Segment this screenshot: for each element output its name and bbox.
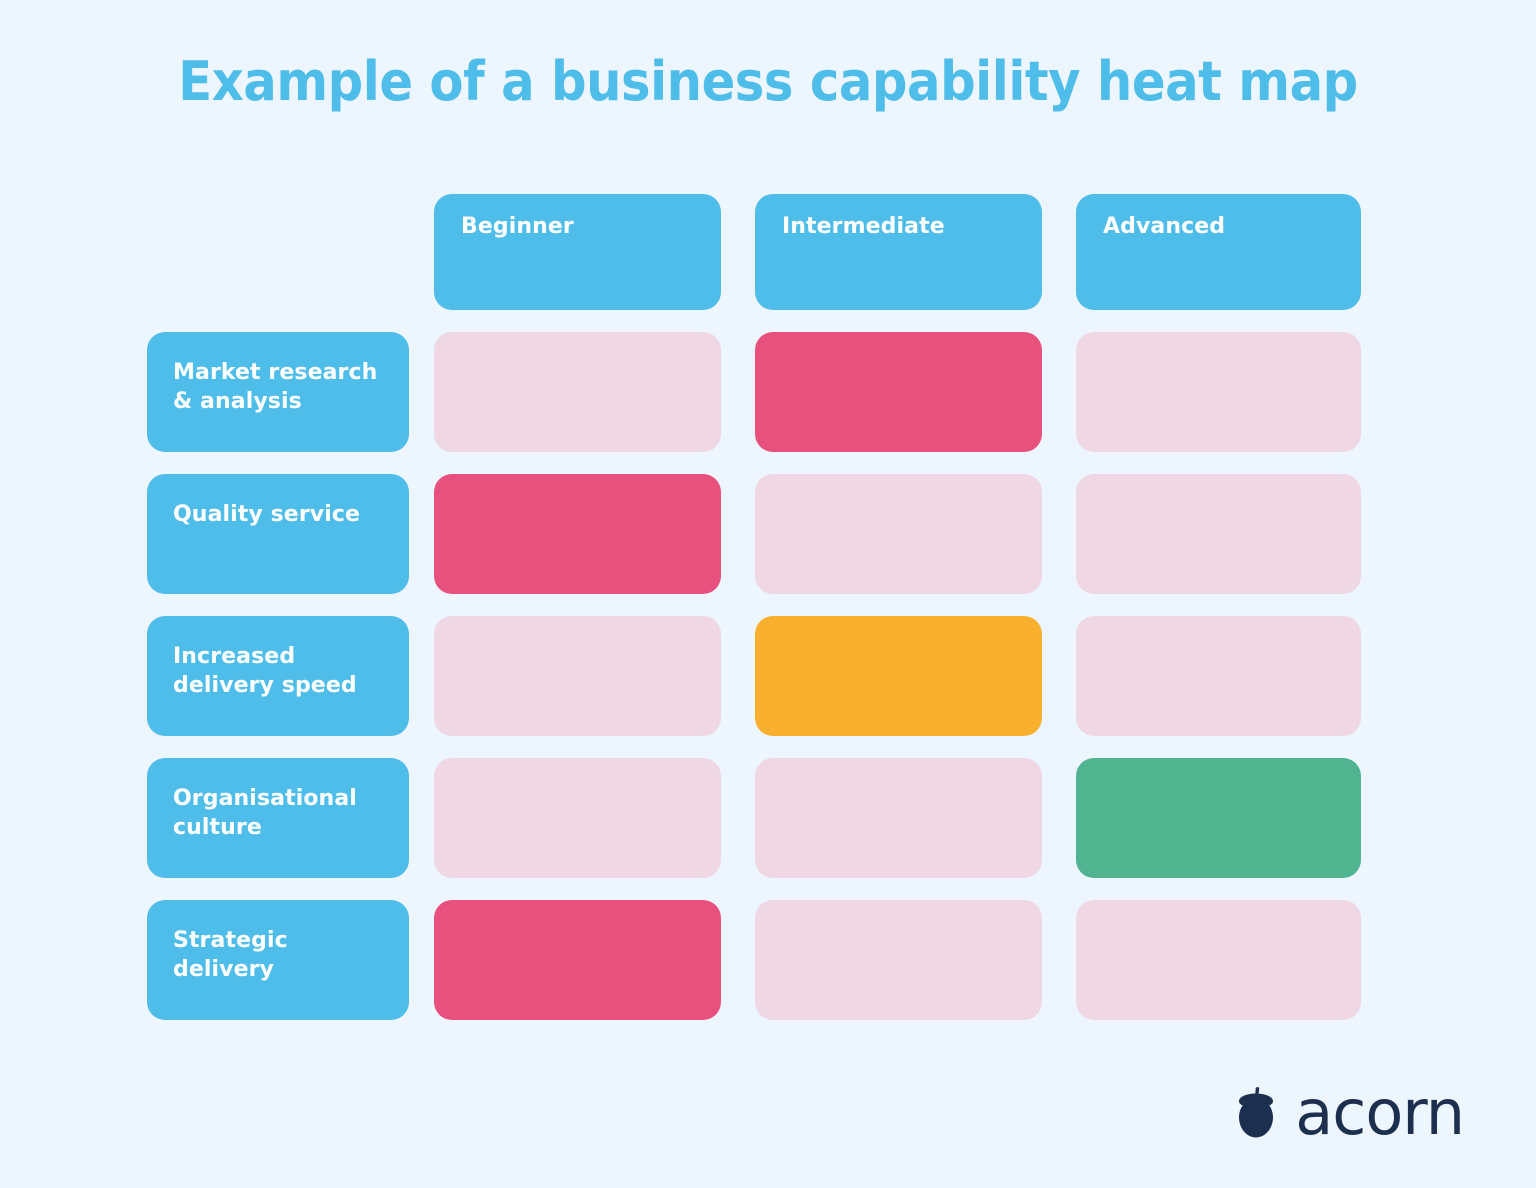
cell-wrap xyxy=(434,474,755,594)
row-label-strategic-delivery[interactable]: Strategic delivery xyxy=(147,900,409,1020)
cell-wrap xyxy=(1076,900,1395,1020)
row-label-quality-service-wrap: Quality service xyxy=(147,474,434,594)
heat-cell-r3c2[interactable] xyxy=(1076,758,1361,878)
row-label-increased-delivery-speed-wrap: Increased delivery speed xyxy=(147,616,434,736)
table-row: Market research & analysis xyxy=(147,332,1395,452)
row-label-market-research-wrap: Market research & analysis xyxy=(147,332,434,452)
cell-wrap xyxy=(755,758,1076,878)
heat-cell-r4c1[interactable] xyxy=(755,900,1042,1020)
heat-cell-r0c0[interactable] xyxy=(434,332,721,452)
cell-wrap xyxy=(755,474,1076,594)
corner-spacer xyxy=(147,194,434,310)
column-header-beginner[interactable]: Beginner xyxy=(434,194,721,310)
heat-cell-r3c1[interactable] xyxy=(755,758,1042,878)
cell-wrap xyxy=(434,332,755,452)
cell-wrap xyxy=(755,900,1076,1020)
column-header-advanced[interactable]: Advanced xyxy=(1076,194,1361,310)
heat-cell-r2c2[interactable] xyxy=(1076,616,1361,736)
column-header-beginner-wrap: Beginner xyxy=(434,194,755,310)
cell-wrap xyxy=(1076,758,1395,878)
cell-wrap xyxy=(434,616,755,736)
row-label-increased-delivery-speed[interactable]: Increased delivery speed xyxy=(147,616,409,736)
cell-wrap xyxy=(1076,474,1395,594)
cell-wrap xyxy=(434,758,755,878)
cell-wrap xyxy=(755,332,1076,452)
row-label-strategic-delivery-wrap: Strategic delivery xyxy=(147,900,434,1020)
column-header-row: Beginner Intermediate Advanced xyxy=(147,194,1395,310)
table-row: Quality service xyxy=(147,474,1395,594)
row-label-quality-service[interactable]: Quality service xyxy=(147,474,409,594)
heat-cell-r4c0[interactable] xyxy=(434,900,721,1020)
column-header-intermediate-wrap: Intermediate xyxy=(755,194,1076,310)
brand-logo: acorn xyxy=(1233,1082,1464,1144)
table-row: Increased delivery speed xyxy=(147,616,1395,736)
column-header-intermediate[interactable]: Intermediate xyxy=(755,194,1042,310)
heatmap-page: Example of a business capability heat ma… xyxy=(0,0,1536,1188)
table-row: Organisational culture xyxy=(147,758,1395,878)
cell-wrap xyxy=(755,616,1076,736)
heat-cell-r1c0[interactable] xyxy=(434,474,721,594)
column-header-advanced-wrap: Advanced xyxy=(1076,194,1395,310)
row-label-market-research[interactable]: Market research & analysis xyxy=(147,332,409,452)
row-label-organisational-culture[interactable]: Organisational culture xyxy=(147,758,409,878)
heatmap-matrix: Beginner Intermediate Advanced Market re… xyxy=(147,194,1395,1020)
page-title: Example of a business capability heat ma… xyxy=(61,52,1474,111)
heat-cell-r3c0[interactable] xyxy=(434,758,721,878)
heat-cell-r4c2[interactable] xyxy=(1076,900,1361,1020)
logo-wordmark: acorn xyxy=(1295,1082,1464,1144)
heat-cell-r2c1[interactable] xyxy=(755,616,1042,736)
cell-wrap xyxy=(434,900,755,1020)
heat-cell-r2c0[interactable] xyxy=(434,616,721,736)
cell-wrap xyxy=(1076,616,1395,736)
heat-cell-r1c2[interactable] xyxy=(1076,474,1361,594)
acorn-icon xyxy=(1233,1085,1279,1141)
heat-cell-r0c2[interactable] xyxy=(1076,332,1361,452)
heat-cell-r0c1[interactable] xyxy=(755,332,1042,452)
table-row: Strategic delivery xyxy=(147,900,1395,1020)
cell-wrap xyxy=(1076,332,1395,452)
row-label-organisational-culture-wrap: Organisational culture xyxy=(147,758,434,878)
heat-cell-r1c1[interactable] xyxy=(755,474,1042,594)
